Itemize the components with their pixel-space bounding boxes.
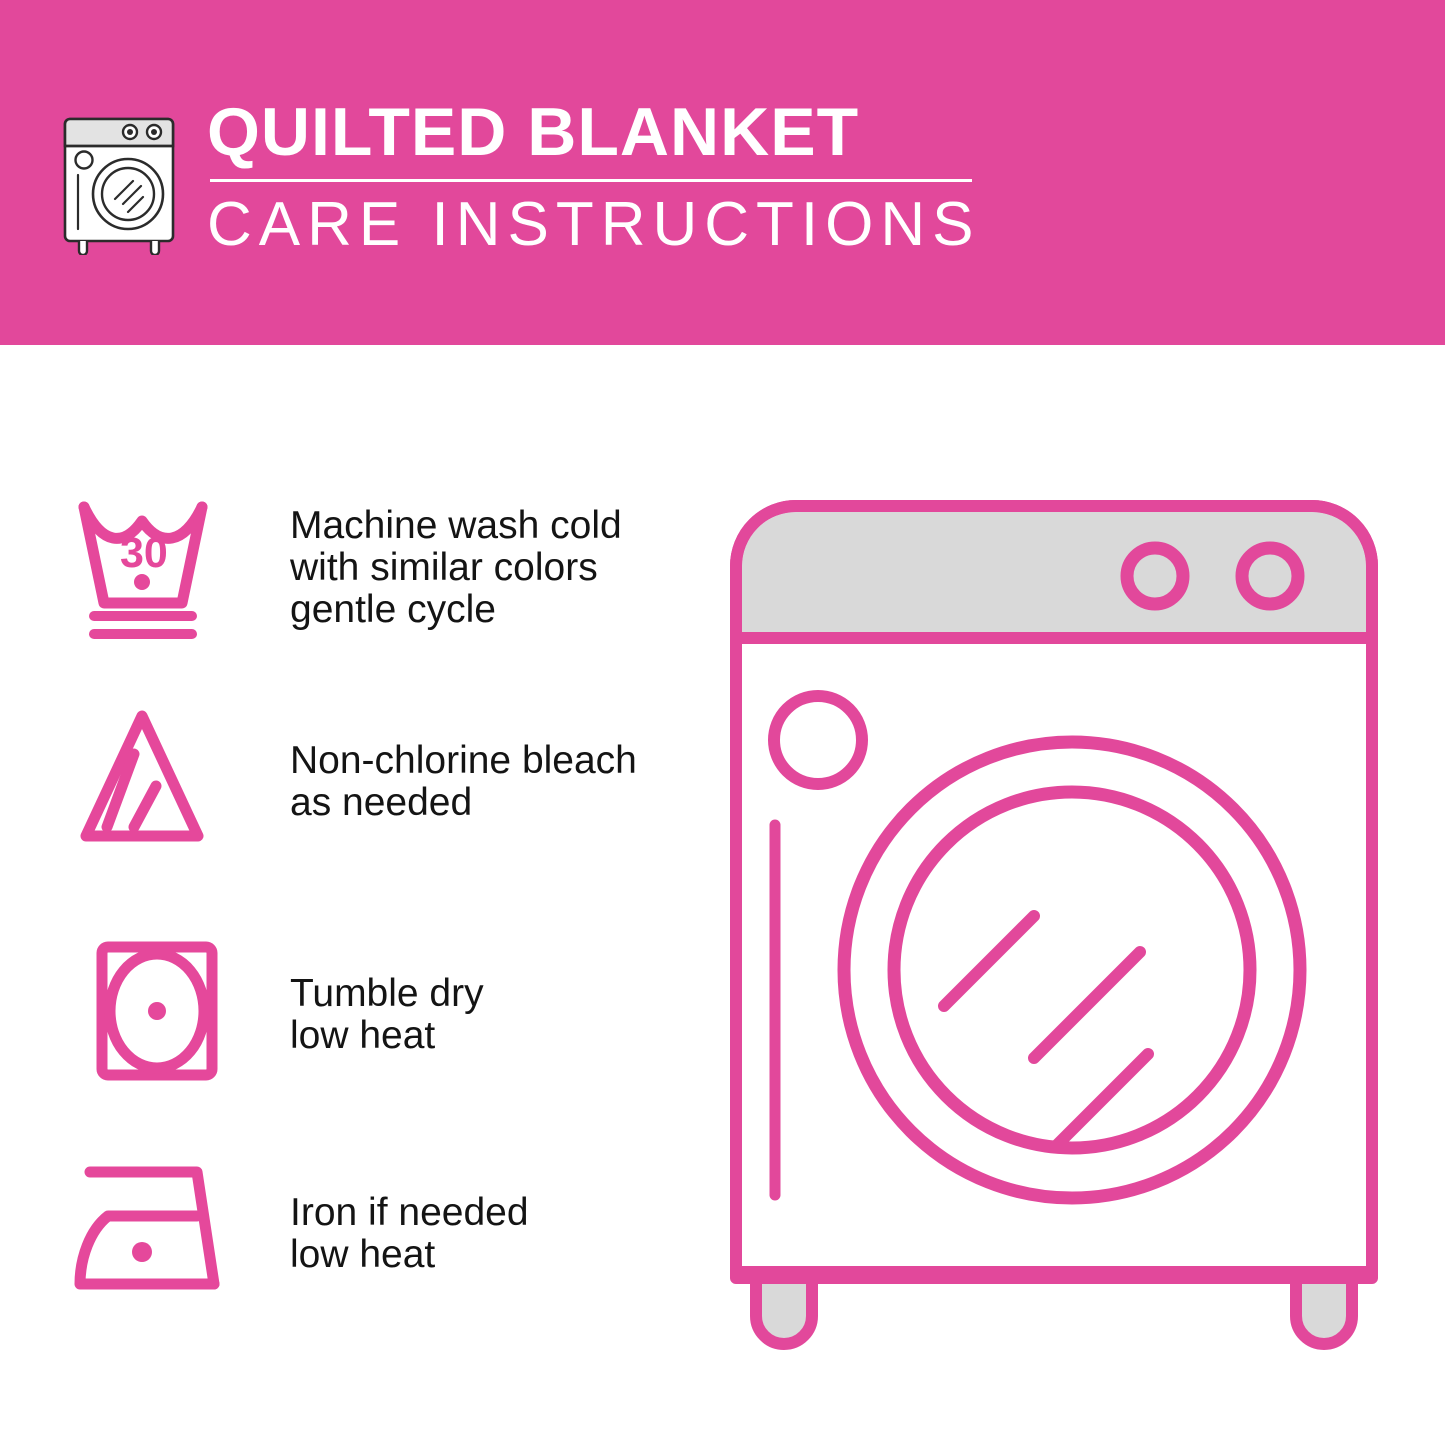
page-title: QUILTED BLANKET: [207, 95, 1037, 169]
care-text-line: Machine wash cold: [290, 505, 700, 547]
non-chlorine-bleach-symbol: [72, 700, 242, 860]
page-subtitle: CARE INSTRUCTIONS: [207, 191, 1037, 259]
care-text-line: low heat: [290, 1015, 700, 1057]
care-text-line: Iron if needed: [290, 1192, 700, 1234]
care-text-line: gentle cycle: [290, 589, 700, 631]
care-text-line: low heat: [290, 1234, 700, 1276]
header-content: QUILTED BLANKET CARE INSTRUCTIONS: [55, 95, 1015, 265]
care-text-line: as needed: [290, 782, 700, 824]
control-panel: [742, 512, 1366, 638]
care-text-line: Non-chlorine bleach: [290, 740, 700, 782]
care-text-line: with similar colors: [290, 547, 700, 589]
care-text-bleach: Non-chlorine bleach as needed: [290, 740, 700, 824]
title-divider: [210, 179, 972, 182]
washing-machine-icon: [55, 105, 195, 255]
care-text-tumble-dry: Tumble dry low heat: [290, 973, 700, 1057]
care-text-machine-wash: Machine wash cold with similar colors ge…: [290, 505, 700, 631]
header-banner: QUILTED BLANKET CARE INSTRUCTIONS: [0, 0, 1445, 345]
care-row-tumble-dry: Tumble dry low heat: [62, 933, 702, 1123]
care-text-iron: Iron if needed low heat: [290, 1192, 700, 1276]
care-text-line: Tumble dry: [290, 973, 700, 1015]
tumble-dry-low-symbol: [72, 933, 242, 1093]
large-washing-machine-illustration: [700, 470, 1420, 1380]
care-instructions-page: QUILTED BLANKET CARE INSTRUCTIONS 30: [0, 0, 1445, 1445]
header-title-block: QUILTED BLANKET CARE INSTRUCTIONS: [207, 95, 1037, 259]
care-row-bleach: Non-chlorine bleach as needed: [62, 700, 702, 890]
wash-temperature-label: 30: [120, 529, 168, 577]
care-row-iron: Iron if needed low heat: [62, 1150, 702, 1340]
machine-wash-30-gentle-symbol: 30: [72, 485, 242, 645]
care-row-machine-wash: 30 Machine wash cold with similar colors…: [62, 485, 702, 675]
iron-low-heat-symbol: [72, 1150, 242, 1310]
